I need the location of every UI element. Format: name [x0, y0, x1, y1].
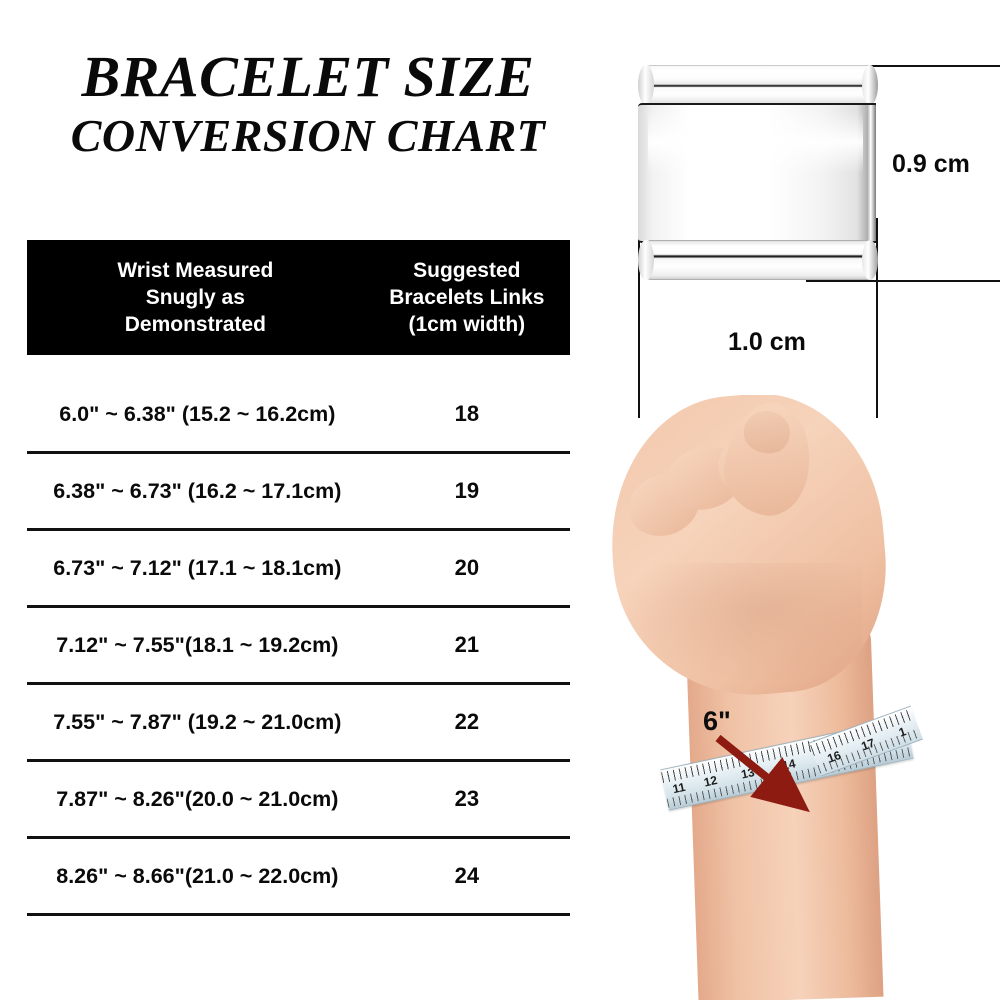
title-line-2: CONVERSION CHART	[28, 108, 588, 164]
table-header-wrist-line3: Demonstrated	[117, 311, 273, 338]
wrist-range-cell: 6.0" ~ 6.38" (15.2 ~ 16.2cm)	[27, 402, 364, 427]
table-row: 6.38" ~ 6.73" (16.2 ~ 17.1cm) 19	[27, 454, 570, 531]
table-row: 7.87" ~ 8.26"(20.0 ~ 21.0cm) 23	[27, 762, 570, 839]
link-bottom-right-cap	[862, 240, 878, 280]
link-width-label: 1.0 cm	[728, 328, 806, 357]
table-header-wrist: Wrist Measured Snugly as Demonstrated	[27, 240, 364, 355]
table-row: 7.55" ~ 7.87" (19.2 ~ 21.0cm) 22	[27, 685, 570, 762]
wrist-range-cell: 7.12" ~ 7.55"(18.1 ~ 19.2cm)	[27, 633, 364, 658]
link-bottom-rail	[644, 240, 876, 280]
tape-number: 11	[671, 780, 686, 796]
links-count-cell: 23	[364, 786, 570, 812]
table-row: 6.0" ~ 6.38" (15.2 ~ 16.2cm) 18	[27, 377, 570, 454]
table-row: 8.26" ~ 8.66"(21.0 ~ 22.0cm) 24	[27, 839, 570, 916]
wrist-range-cell: 7.87" ~ 8.26"(20.0 ~ 21.0cm)	[27, 787, 364, 812]
wrist-measurement-photo: 11 12 13 14 15 16 16 17 1 6"	[600, 395, 1000, 1000]
bracelet-link-graphic	[638, 65, 876, 280]
links-count-cell: 20	[364, 555, 570, 581]
wrist-range-cell: 7.55" ~ 7.87" (19.2 ~ 21.0cm)	[27, 710, 364, 735]
tape-number: 13	[740, 765, 756, 781]
hand-shading	[622, 563, 862, 683]
table-header-gap	[27, 355, 570, 377]
table-header-wrist-line2: Snugly as	[117, 284, 273, 311]
bracelet-size-chart-page: BRACELET SIZE CONVERSION CHART Wrist Mea…	[0, 0, 1000, 1000]
link-top-left-cap	[638, 65, 654, 105]
table-header-links-line1: Suggested	[389, 257, 544, 284]
table-body: 6.0" ~ 6.38" (15.2 ~ 16.2cm) 18 6.38" ~ …	[27, 377, 570, 916]
links-count-cell: 18	[364, 401, 570, 427]
wrist-range-cell: 6.38" ~ 6.73" (16.2 ~ 17.1cm)	[27, 479, 364, 504]
table-row: 7.12" ~ 7.55"(18.1 ~ 19.2cm) 21	[27, 608, 570, 685]
links-count-cell: 24	[364, 863, 570, 889]
table-header-links-line3: (1cm width)	[389, 311, 544, 338]
conversion-table: Wrist Measured Snugly as Demonstrated Su…	[27, 240, 570, 916]
links-count-cell: 21	[364, 632, 570, 658]
link-top-rail	[644, 65, 876, 105]
page-title: BRACELET SIZE CONVERSION CHART	[28, 46, 588, 164]
wrist-range-cell: 6.73" ~ 7.12" (17.1 ~ 18.1cm)	[27, 556, 364, 581]
bracelet-link-diagram: 0.9 cm 1.0 cm	[600, 40, 1000, 400]
tape-number: 12	[703, 773, 719, 789]
dimension-line-bottom	[806, 280, 1000, 282]
title-line-1: BRACELET SIZE	[28, 46, 588, 108]
tape-number: 14	[781, 756, 797, 772]
table-header: Wrist Measured Snugly as Demonstrated Su…	[27, 240, 570, 355]
link-height-label: 0.9 cm	[892, 150, 970, 179]
links-count-cell: 19	[364, 478, 570, 504]
table-row: 6.73" ~ 7.12" (17.1 ~ 18.1cm) 20	[27, 531, 570, 608]
table-header-links-line2: Bracelets Links	[389, 284, 544, 311]
table-header-links: Suggested Bracelets Links (1cm width)	[364, 240, 570, 355]
link-right-edge	[868, 103, 876, 243]
link-top-right-cap	[862, 65, 878, 105]
link-face-panel	[638, 103, 876, 243]
wrist-range-cell: 8.26" ~ 8.66"(21.0 ~ 22.0cm)	[27, 864, 364, 889]
table-header-wrist-line1: Wrist Measured	[117, 257, 273, 284]
six-inch-label: 6"	[703, 706, 731, 737]
links-count-cell: 22	[364, 709, 570, 735]
link-bottom-left-cap	[638, 240, 654, 280]
